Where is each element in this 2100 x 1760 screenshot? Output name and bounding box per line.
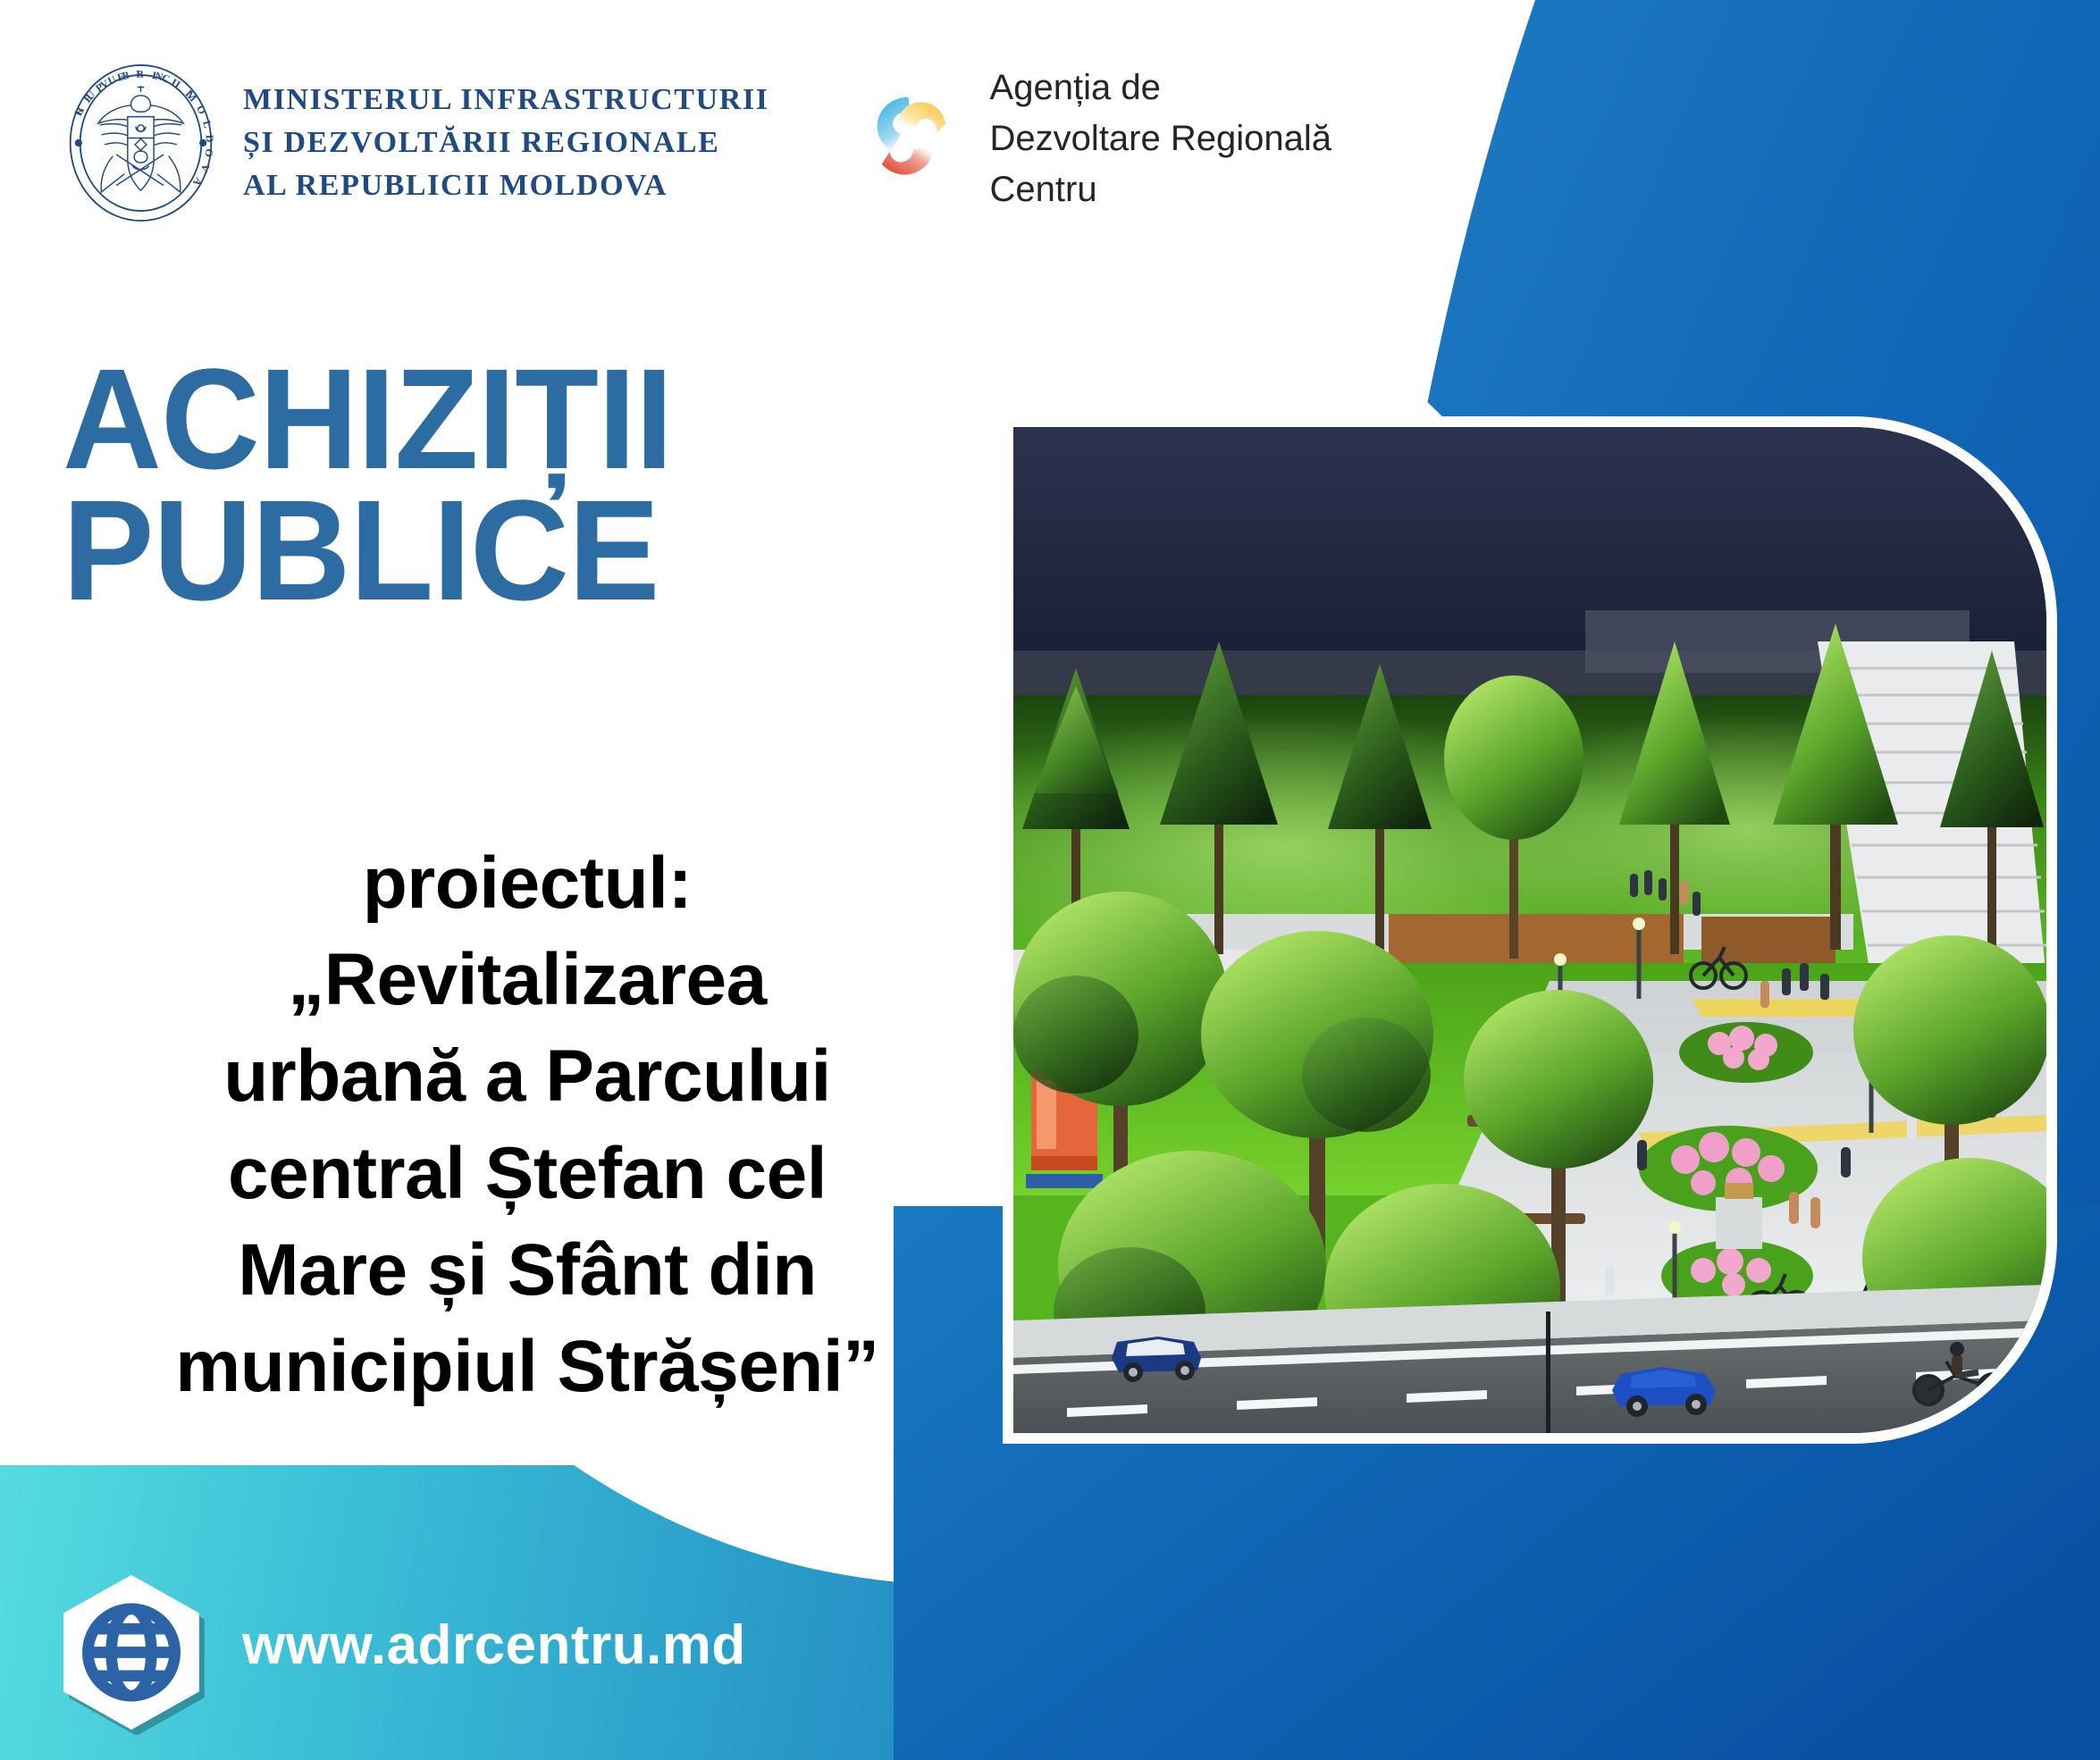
adr-centru-pinwheel-icon: [868, 89, 962, 188]
agency-line-1: Agenția de: [990, 63, 1331, 113]
page-title: ACHIZIȚII PUBLICE: [63, 353, 963, 616]
svg-text:B: B: [121, 68, 131, 82]
project-line-3: urbană a Parcului: [54, 1028, 1001, 1125]
ministry-name: MINISTERUL INFRASTRUCTURII ȘI DEZVOLTĂRI…: [243, 79, 769, 208]
svg-text:L: L: [137, 68, 146, 80]
headline-line-2: PUBLICE: [63, 484, 963, 616]
moldova-government-seal-icon: G U V E R N U L R E P U B L I C I: [67, 63, 214, 223]
website-url[interactable]: www.adrcentru.md: [242, 1613, 746, 1691]
agency-name: Agenția de Dezvoltare Regională Centru: [990, 63, 1331, 214]
project-line-5: Mare și Sfânt din: [54, 1222, 1001, 1319]
ministry-line-2: ȘI DEZVOLTĂRII REGIONALE: [243, 122, 769, 164]
ministry-logo-block: G U V E R N U L R E P U B L I C I: [67, 63, 769, 223]
svg-text:V: V: [197, 163, 213, 176]
project-line-1: proiectul:: [54, 835, 1001, 932]
hexagon-globe-icon: [54, 1570, 210, 1735]
header-logos: G U V E R N U L R E P U B L I C I: [67, 63, 1331, 223]
project-description: proiectul: „Revitalizarea urbană a Parcu…: [54, 835, 1001, 1415]
agency-line-2: Dezvoltare Regională: [990, 113, 1331, 164]
project-render-frame: [1003, 416, 2057, 1444]
svg-text:M: M: [183, 88, 200, 105]
project-line-4: central Ștefan cel: [54, 1126, 1001, 1222]
svg-text:D: D: [203, 134, 214, 144]
park-revitalization-night-render: [1013, 427, 2046, 1433]
agency-logo-block: Agenția de Dezvoltare Regională Centru: [868, 63, 1331, 214]
svg-text:L: L: [200, 119, 214, 130]
agency-line-3: Centru: [990, 164, 1331, 215]
svg-text:O: O: [202, 148, 214, 160]
project-line-2: „Revitalizarea: [54, 932, 1001, 1028]
footer-bar: www.adrcentru.md: [54, 1570, 746, 1735]
project-render-clip: [1013, 427, 2046, 1433]
project-line-6: municipiul Strășeni”: [54, 1319, 1001, 1415]
poster-canvas: G U V E R N U L R E P U B L I C I: [0, 0, 2100, 1760]
ministry-line-3: AL REPUBLICII MOLDOVA: [243, 164, 769, 207]
headline-line-1: ACHIZIȚII: [63, 353, 963, 484]
ministry-line-1: MINISTERUL INFRASTRUCTURII: [243, 79, 769, 122]
svg-text:A: A: [189, 175, 205, 190]
